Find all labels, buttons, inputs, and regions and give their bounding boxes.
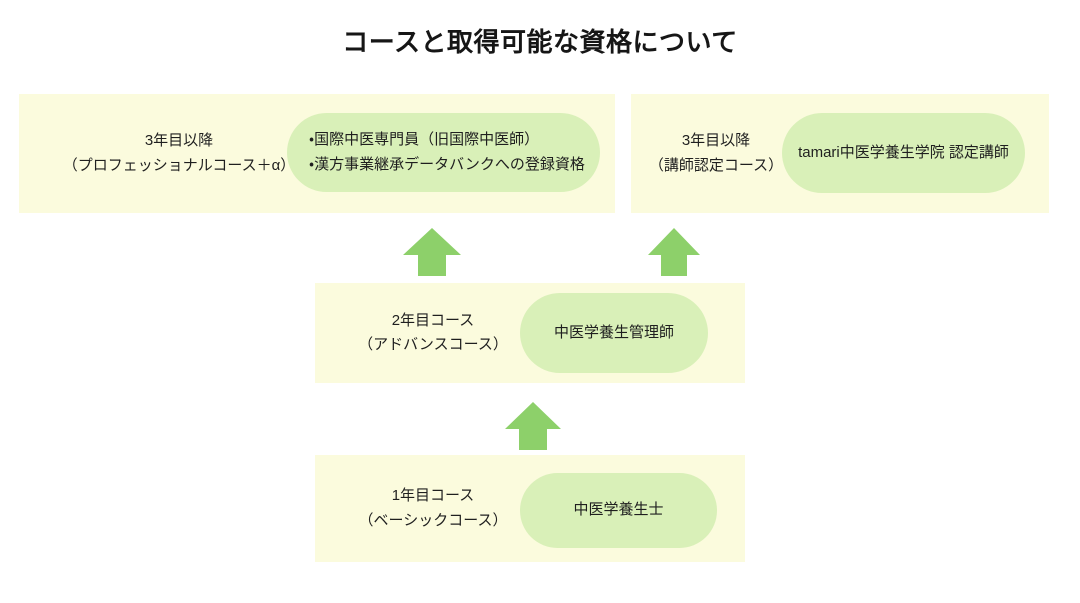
instructor-course-line-1: 3年目以降 [649, 129, 783, 153]
diagram-canvas: コースと取得可能な資格について 3年目以降 （プロフェッショナルコース＋α） ・… [0, 0, 1080, 603]
professional-course-line-2: （プロフェッショナルコース＋α） [63, 154, 296, 178]
year1-course-line-1: 1年目コース [359, 484, 508, 508]
professional-course-label: 3年目以降 （プロフェッショナルコース＋α） [64, 94, 294, 213]
pill-professional-qualifications: ・国際中医専門員（旧国際中医師） ・漢方事業継承データバンクへの登録資格 [287, 113, 600, 192]
page-title: コースと取得可能な資格について [0, 22, 1080, 59]
up-arrow-icon-to-instructor [648, 228, 700, 276]
instructor-course-line-2: （講師認定コース） [649, 154, 783, 178]
year2-course-line-1: 2年目コース [358, 309, 508, 333]
year2-course-line-2: （アドバンスコース） [358, 333, 508, 357]
up-arrow-icon-year1-to-year2 [505, 402, 561, 450]
professional-qualification-line-1: ・国際中医専門員（旧国際中医師） [309, 128, 585, 152]
pill-instructor-qualification: tamari中医学養生学院 認定講師 [782, 113, 1025, 193]
up-arrow-icon-to-professional [403, 228, 461, 276]
year2-course-label: 2年目コース （アドバンスコース） [333, 283, 533, 383]
instructor-course-label: 3年目以降 （講師認定コース） [641, 94, 791, 213]
pill-year1-qualification: 中医学養生士 [520, 473, 717, 548]
pill-year2-qualification: 中医学養生管理師 [520, 293, 708, 373]
instructor-qualification-text: tamari中医学養生学院 認定講師 [798, 141, 1009, 165]
professional-qualification-line-2: ・漢方事業継承データバンクへの登録資格 [309, 153, 585, 177]
professional-course-line-1: 3年目以降 [63, 129, 296, 153]
year1-course-label: 1年目コース （ベーシックコース） [333, 455, 533, 562]
year1-course-line-2: （ベーシックコース） [359, 509, 508, 533]
year1-qualification-text: 中医学養生士 [573, 498, 663, 522]
year2-qualification-text: 中医学養生管理師 [554, 321, 674, 345]
